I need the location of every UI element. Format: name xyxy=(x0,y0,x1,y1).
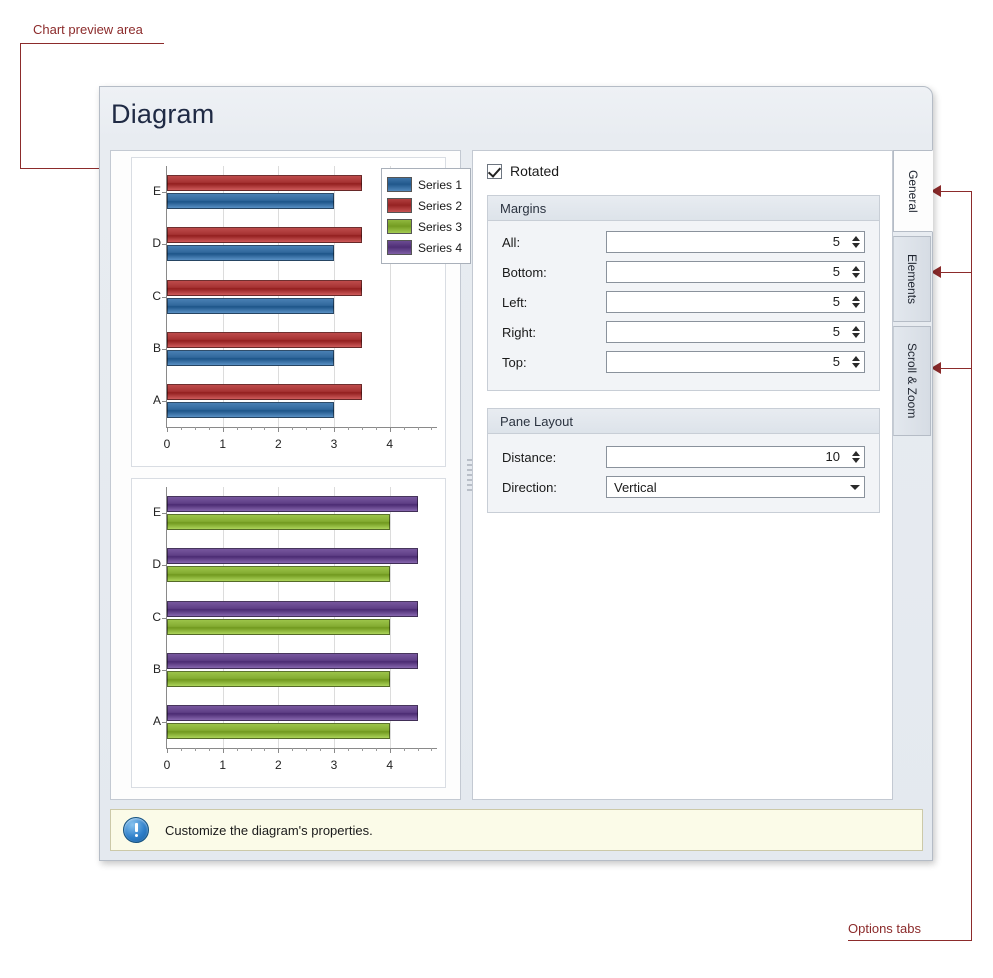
margin-left-label: Left: xyxy=(502,295,606,310)
y-axis-category-label: B xyxy=(145,662,161,676)
chart-bar[interactable] xyxy=(167,193,334,209)
tab-general[interactable]: General xyxy=(893,150,933,232)
x-axis-tick xyxy=(223,748,224,753)
page-title: Diagram xyxy=(111,99,214,130)
options-panel: Rotated Margins All: 5 Bottom: 5 xyxy=(472,150,893,800)
margin-left-row: Left: 5 xyxy=(488,287,879,317)
pane-direction-row: Direction: Vertical xyxy=(488,472,879,502)
margin-bottom-label: Bottom: xyxy=(502,265,606,280)
options-tab-strip: General Elements Scroll & Zoom xyxy=(893,150,933,800)
margins-group: Margins All: 5 Bottom: 5 xyxy=(487,195,880,391)
spin-down-icon[interactable] xyxy=(852,243,860,248)
x-axis-minor-tick xyxy=(418,427,419,430)
x-axis-minor-tick xyxy=(404,427,405,430)
x-axis-tick xyxy=(278,748,279,753)
legend-item[interactable]: Series 1 xyxy=(387,174,465,195)
pane-distance-label: Distance: xyxy=(502,450,606,465)
x-axis-minor-tick xyxy=(348,748,349,751)
annotation-options-tabs-line-t2 xyxy=(941,272,972,273)
chart-pane-bottom[interactable]: 01234ABCDE xyxy=(131,478,446,788)
margin-top-row: Top: 5 xyxy=(488,347,879,377)
x-axis-tick xyxy=(278,427,279,432)
chart-bar[interactable] xyxy=(167,548,418,564)
spin-down-icon[interactable] xyxy=(852,363,860,368)
annotation-options-tabs-line-t3 xyxy=(941,368,972,369)
status-message: Customize the diagram's properties. xyxy=(165,823,373,838)
x-axis-tick-label: 1 xyxy=(213,437,233,451)
x-axis-minor-tick xyxy=(195,427,196,430)
legend-swatch-icon xyxy=(387,177,412,192)
x-axis-minor-tick xyxy=(237,748,238,751)
y-axis-category-label: C xyxy=(145,610,161,624)
spin-up-icon[interactable] xyxy=(852,266,860,271)
chart-legend[interactable]: Series 1Series 2Series 3Series 4 xyxy=(381,168,471,264)
legend-swatch-icon xyxy=(387,198,412,213)
x-axis-tick xyxy=(167,427,168,432)
chart-bar[interactable] xyxy=(167,175,362,191)
margin-left-stepper[interactable]: 5 xyxy=(606,291,865,313)
y-axis-category-label: E xyxy=(145,184,161,198)
y-axis-category-label: D xyxy=(145,236,161,250)
chart-bar[interactable] xyxy=(167,280,362,296)
x-axis-tick-label: 0 xyxy=(157,437,177,451)
y-axis-category-label: A xyxy=(145,714,161,728)
tab-general-label: General xyxy=(906,170,920,213)
margins-group-title: Margins xyxy=(488,196,879,221)
x-axis-minor-tick xyxy=(292,748,293,751)
spin-up-icon[interactable] xyxy=(852,451,860,456)
margin-top-spin-buttons[interactable] xyxy=(847,352,864,372)
x-axis-minor-tick xyxy=(251,427,252,430)
x-axis-tick-label: 2 xyxy=(268,758,288,772)
x-axis-tick xyxy=(390,748,391,753)
x-axis-tick-label: 3 xyxy=(324,437,344,451)
spin-up-icon[interactable] xyxy=(852,296,860,301)
legend-item[interactable]: Series 2 xyxy=(387,195,465,216)
x-axis-minor-tick xyxy=(181,427,182,430)
status-bar: Customize the diagram's properties. xyxy=(110,809,923,851)
chart-bar[interactable] xyxy=(167,705,418,721)
margin-all-stepper[interactable]: 5 xyxy=(606,231,865,253)
y-axis-category-label: D xyxy=(145,557,161,571)
x-axis-minor-tick xyxy=(348,427,349,430)
chart-bar[interactable] xyxy=(167,723,390,739)
annotation-options-tabs-line-v xyxy=(971,191,972,941)
x-axis-minor-tick xyxy=(376,748,377,751)
pane-layout-group: Pane Layout Distance: 10 Direction: Vert… xyxy=(487,408,880,513)
margin-bottom-value[interactable]: 5 xyxy=(607,262,847,282)
margin-all-spin-buttons[interactable] xyxy=(847,232,864,252)
margin-top-value[interactable]: 5 xyxy=(607,352,847,372)
chart-pane-top[interactable]: 01234ABCDE Series 1Series 2Series 3Serie… xyxy=(131,157,446,467)
x-axis-minor-tick xyxy=(404,748,405,751)
x-axis-minor-tick xyxy=(320,427,321,430)
rotated-checkbox[interactable] xyxy=(487,164,502,179)
chart-bar[interactable] xyxy=(167,402,334,418)
chart-preview-panel: 01234ABCDE Series 1Series 2Series 3Serie… xyxy=(110,150,461,800)
diagram-dialog-window: Diagram 01234ABCDE Series 1Series 2Serie… xyxy=(99,86,933,861)
chart-bar[interactable] xyxy=(167,350,334,366)
x-axis-tick xyxy=(223,427,224,432)
margin-right-stepper[interactable]: 5 xyxy=(606,321,865,343)
x-axis-minor-tick xyxy=(251,748,252,751)
chart-bar[interactable] xyxy=(167,332,362,348)
x-axis-tick xyxy=(167,748,168,753)
annotation-chart-preview-label: Chart preview area xyxy=(33,22,143,37)
x-axis-minor-tick xyxy=(376,427,377,430)
legend-item[interactable]: Series 3 xyxy=(387,216,465,237)
tab-elements[interactable]: Elements xyxy=(893,236,931,322)
pane-distance-value[interactable]: 10 xyxy=(607,447,847,467)
chart-bar[interactable] xyxy=(167,245,334,261)
spin-up-icon[interactable] xyxy=(852,236,860,241)
chart-bar[interactable] xyxy=(167,619,390,635)
x-axis-minor-tick xyxy=(264,748,265,751)
x-axis-minor-tick xyxy=(237,427,238,430)
chart-bar[interactable] xyxy=(167,298,334,314)
x-axis-tick-label: 0 xyxy=(157,758,177,772)
tab-elements-label: Elements xyxy=(905,254,919,304)
rotated-checkbox-row[interactable]: Rotated xyxy=(487,163,559,179)
x-axis-tick-label: 4 xyxy=(380,758,400,772)
chart-bar[interactable] xyxy=(167,227,362,243)
x-axis-tick xyxy=(334,427,335,432)
spin-down-icon[interactable] xyxy=(852,333,860,338)
x-axis-minor-tick xyxy=(362,427,363,430)
chart-bar[interactable] xyxy=(167,671,390,687)
x-axis-minor-tick xyxy=(320,748,321,751)
x-axis-minor-tick xyxy=(306,427,307,430)
info-icon xyxy=(123,817,149,843)
x-axis-minor-tick xyxy=(362,748,363,751)
x-axis-minor-tick xyxy=(209,748,210,751)
x-axis-minor-tick xyxy=(306,748,307,751)
spin-up-icon[interactable] xyxy=(852,326,860,331)
x-axis-tick-label: 4 xyxy=(380,437,400,451)
margin-top-label: Top: xyxy=(502,355,606,370)
spin-down-icon[interactable] xyxy=(852,458,860,463)
margin-bottom-stepper[interactable]: 5 xyxy=(606,261,865,283)
x-axis-minor-tick xyxy=(431,748,432,751)
spin-down-icon[interactable] xyxy=(852,273,860,278)
y-axis-category-label: B xyxy=(145,341,161,355)
chart-bar[interactable] xyxy=(167,653,418,669)
margin-left-spin-buttons[interactable] xyxy=(847,292,864,312)
margin-bottom-spin-buttons[interactable] xyxy=(847,262,864,282)
x-axis-minor-tick xyxy=(209,427,210,430)
margin-right-row: Right: 5 xyxy=(488,317,879,347)
legend-swatch-icon xyxy=(387,219,412,234)
x-axis-tick-label: 1 xyxy=(213,758,233,772)
chart-bar[interactable] xyxy=(167,601,418,617)
y-axis-category-label: C xyxy=(145,289,161,303)
chevron-down-icon[interactable] xyxy=(845,485,864,490)
spin-down-icon[interactable] xyxy=(852,303,860,308)
x-axis-minor-tick xyxy=(418,748,419,751)
tab-scroll-zoom[interactable]: Scroll & Zoom xyxy=(893,326,931,436)
pane-direction-value: Vertical xyxy=(607,480,845,495)
rotated-checkbox-label: Rotated xyxy=(510,163,559,179)
x-axis-minor-tick xyxy=(431,427,432,430)
legend-label: Series 2 xyxy=(418,199,462,213)
annotation-options-tabs-underline xyxy=(848,940,972,941)
x-axis-tick-label: 3 xyxy=(324,758,344,772)
legend-item[interactable]: Series 4 xyxy=(387,237,465,258)
plot-area-bottom: 01234ABCDE xyxy=(166,487,437,749)
x-axis-tick xyxy=(334,748,335,753)
spin-up-icon[interactable] xyxy=(852,356,860,361)
margin-right-spin-buttons[interactable] xyxy=(847,322,864,342)
margin-top-stepper[interactable]: 5 xyxy=(606,351,865,373)
pane-direction-label: Direction: xyxy=(502,480,606,495)
x-axis-minor-tick xyxy=(195,748,196,751)
annotation-options-tabs-label: Options tabs xyxy=(848,921,921,936)
annotation-chart-preview-line-v xyxy=(20,43,21,169)
pane-distance-stepper[interactable]: 10 xyxy=(606,446,865,468)
legend-label: Series 4 xyxy=(418,241,462,255)
y-axis-category-label: E xyxy=(145,505,161,519)
legend-label: Series 3 xyxy=(418,220,462,234)
chart-bar[interactable] xyxy=(167,566,390,582)
x-axis-tick-label: 2 xyxy=(268,437,288,451)
annotation-chart-preview-line-h1 xyxy=(20,43,164,44)
tab-scroll-zoom-label: Scroll & Zoom xyxy=(905,343,919,418)
x-axis-minor-tick xyxy=(264,427,265,430)
margin-right-label: Right: xyxy=(502,325,606,340)
x-axis-minor-tick xyxy=(292,427,293,430)
annotation-options-tabs-line-t1 xyxy=(941,191,972,192)
legend-swatch-icon xyxy=(387,240,412,255)
x-axis-tick xyxy=(390,427,391,432)
margin-bottom-row: Bottom: 5 xyxy=(488,257,879,287)
margin-right-value[interactable]: 5 xyxy=(607,322,847,342)
pane-direction-select[interactable]: Vertical xyxy=(606,476,865,498)
margin-all-value[interactable]: 5 xyxy=(607,232,847,252)
y-axis-category-label: A xyxy=(145,393,161,407)
legend-label: Series 1 xyxy=(418,178,462,192)
pane-layout-group-title: Pane Layout xyxy=(488,409,879,434)
pane-distance-spin-buttons[interactable] xyxy=(847,447,864,467)
chart-bar[interactable] xyxy=(167,496,418,512)
margin-left-value[interactable]: 5 xyxy=(607,292,847,312)
margin-all-label: All: xyxy=(502,235,606,250)
pane-distance-row: Distance: 10 xyxy=(488,442,879,472)
x-axis-minor-tick xyxy=(181,748,182,751)
chart-bar[interactable] xyxy=(167,514,390,530)
margin-all-row: All: 5 xyxy=(488,227,879,257)
chart-bar[interactable] xyxy=(167,384,362,400)
